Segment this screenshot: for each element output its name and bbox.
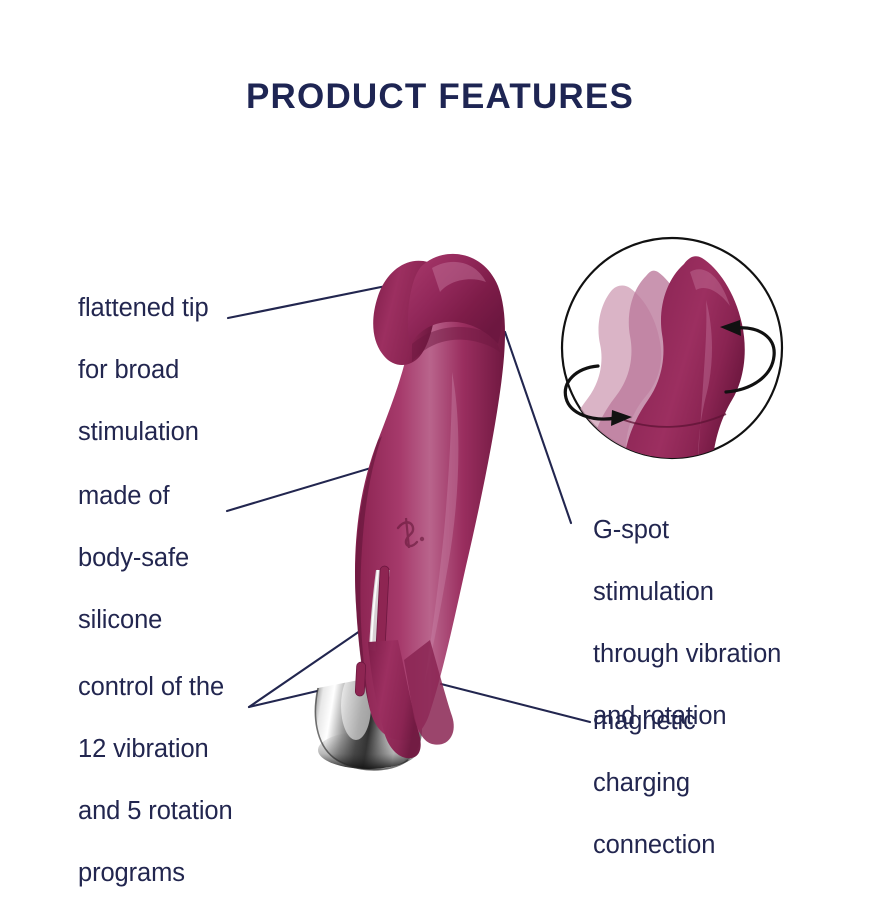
- label-line: body-safe: [78, 543, 293, 574]
- label-line: flattened tip: [78, 293, 293, 324]
- leader-line-magnetic: [441, 684, 590, 722]
- label-line: magnetic: [593, 706, 823, 737]
- label-line: 12 vibration: [78, 734, 308, 765]
- label-line: for broad: [78, 355, 293, 386]
- label-line: programs: [78, 858, 308, 889]
- label-magnetic-charging: magnetic charging connection: [593, 675, 823, 892]
- label-line: and 5 rotation: [78, 796, 308, 827]
- product-features-page: PRODUCT FEATURES: [0, 0, 880, 880]
- label-control-programs: control of the 12 vibration and 5 rotati…: [78, 641, 308, 920]
- label-line: stimulation: [593, 577, 853, 608]
- label-line: charging: [593, 768, 823, 799]
- label-line: control of the: [78, 672, 308, 703]
- label-body-safe-silicone: made of body-safe silicone: [78, 450, 293, 667]
- rotation-detail-inset: [562, 238, 782, 500]
- label-line: through vibration: [593, 639, 853, 670]
- leader-line-gspot: [505, 332, 571, 523]
- small-control-button[interactable]: [355, 662, 366, 696]
- label-line: G-spot: [593, 515, 853, 546]
- label-line: connection: [593, 830, 823, 861]
- label-line: stimulation: [78, 417, 293, 448]
- label-line: made of: [78, 481, 293, 512]
- label-flattened-tip: flattened tip for broad stimulation: [78, 262, 293, 479]
- label-line: silicone: [78, 605, 293, 636]
